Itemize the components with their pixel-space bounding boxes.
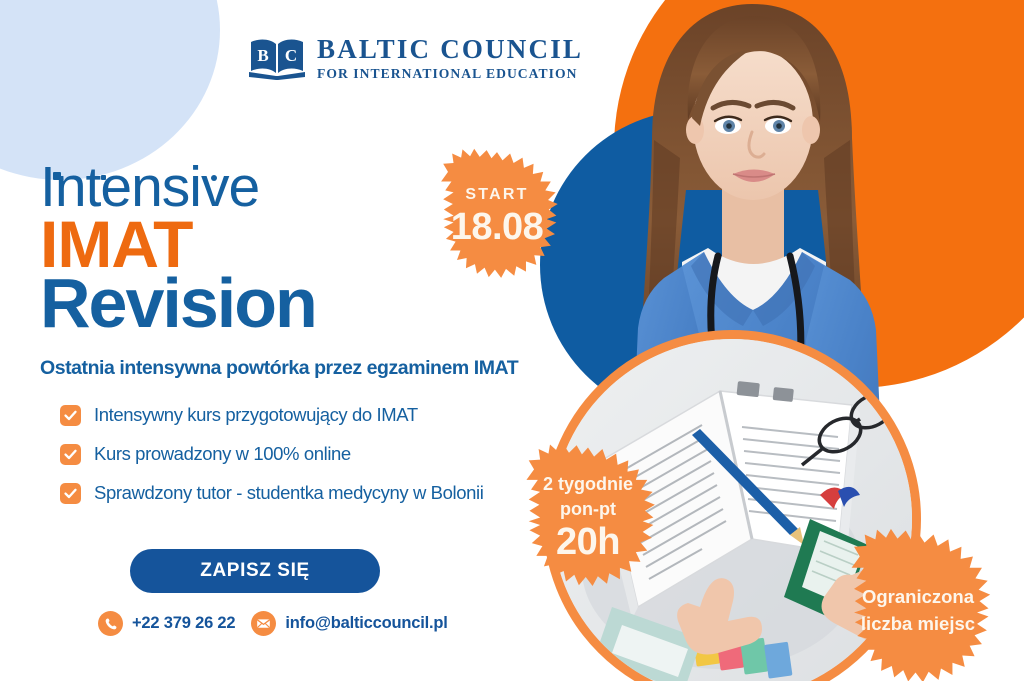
contact-row: +22 379 26 22 info@balticcouncil.pl xyxy=(98,611,448,636)
email-address: info@balticcouncil.pl xyxy=(285,614,447,633)
svg-text:C: C xyxy=(285,46,297,65)
headline-group: Intensive IMAT Revision xyxy=(40,160,316,337)
background-circle-lightblue xyxy=(0,0,220,180)
phone-number: +22 379 26 22 xyxy=(132,614,235,633)
headline-line-3: Revision xyxy=(40,270,316,337)
phone-icon xyxy=(98,611,123,636)
limited-line-2: liczba miejsc xyxy=(861,613,975,635)
phone-contact[interactable]: +22 379 26 22 xyxy=(98,611,235,636)
list-item-label: Kurs prowadzony w 100% online xyxy=(94,443,351,465)
signup-button[interactable]: ZAPISZ SIĘ xyxy=(130,549,380,593)
list-item-label: Sprawdzony tutor - studentka medycyny w … xyxy=(94,482,483,504)
duration-line-2: pon-pt xyxy=(543,499,633,520)
subtitle: Ostatnia intensywna powtórka przez egzam… xyxy=(40,357,518,380)
logo-title: BALTIC COUNCIL xyxy=(317,36,583,63)
list-item: Sprawdzony tutor - studentka medycyny w … xyxy=(60,482,483,504)
duration-line-1: 2 tygodnie xyxy=(543,474,633,495)
list-item-label: Intensywny kurs przygotowujący do IMAT xyxy=(94,404,418,426)
svg-text:B: B xyxy=(257,46,268,65)
envelope-icon xyxy=(251,611,276,636)
logo-subtitle: FOR INTERNATIONAL EDUCATION xyxy=(317,67,583,81)
limited-line-1: Ograniczona xyxy=(861,586,975,608)
check-icon xyxy=(60,405,81,426)
email-contact[interactable]: info@balticcouncil.pl xyxy=(251,611,447,636)
duration-line-3: 20h xyxy=(543,521,633,564)
check-icon xyxy=(60,483,81,504)
start-label: START xyxy=(451,186,544,204)
limited-seats-badge: Ograniczona liczba miejsc xyxy=(836,528,1000,681)
promo-banner: B C BALTIC COUNCIL FOR INTERNATIONAL EDU… xyxy=(0,0,1024,681)
duration-badge: 2 tygodnie pon-pt 20h xyxy=(512,443,664,595)
list-item: Kurs prowadzony w 100% online xyxy=(60,443,483,465)
start-date-badge: START 18.08 xyxy=(428,148,566,286)
brand-logo[interactable]: B C BALTIC COUNCIL FOR INTERNATIONAL EDU… xyxy=(248,36,583,81)
list-item: Intensywny kurs przygotowujący do IMAT xyxy=(60,404,483,426)
start-date: 18.08 xyxy=(451,206,544,249)
check-icon xyxy=(60,444,81,465)
feature-list: Intensywny kurs przygotowujący do IMAT K… xyxy=(60,404,483,504)
open-book-icon: B C xyxy=(248,36,306,80)
